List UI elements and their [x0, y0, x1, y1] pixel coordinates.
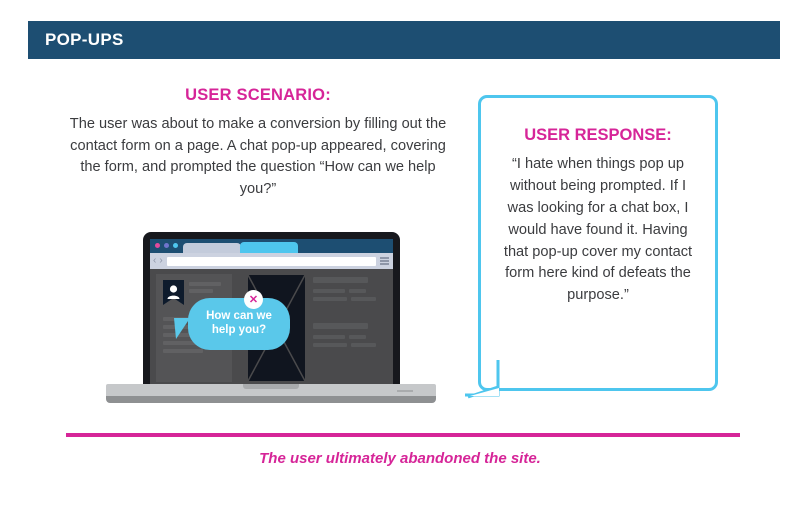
user-scenario-text: The user was about to make a conversion …	[68, 114, 448, 200]
placeholder-line	[313, 289, 345, 293]
avatar-icon	[163, 280, 184, 305]
chat-popup-text: How can we help you?	[188, 298, 290, 338]
page-title: POP-UPS	[45, 30, 124, 50]
maximize-dot-icon[interactable]	[173, 243, 178, 248]
placeholder-line	[351, 297, 376, 301]
browser-tab-inactive[interactable]	[183, 243, 241, 253]
browser-tab-active[interactable]	[240, 242, 298, 253]
browser-toolbar: ‹ ›	[150, 253, 393, 269]
footer-divider	[66, 433, 740, 437]
chat-close-button[interactable]: ✕	[244, 290, 263, 309]
minimize-dot-icon[interactable]	[164, 243, 169, 248]
placeholder-line	[351, 343, 376, 347]
laptop-base-sidemark	[397, 390, 413, 392]
user-scenario-block: USER SCENARIO: The user was about to mak…	[68, 86, 448, 200]
laptop-screen: ‹ ›	[150, 239, 393, 384]
placeholder-line	[189, 289, 213, 293]
placeholder-line	[313, 277, 368, 283]
footer-caption: The user ultimately abandoned the site.	[0, 450, 800, 467]
user-response-bubble: USER RESPONSE: “I hate when things pop u…	[478, 95, 718, 391]
hamburger-menu-icon[interactable]	[380, 257, 389, 264]
placeholder-line	[189, 282, 221, 286]
chat-popup-line-1: How can we	[206, 310, 272, 322]
placeholder-line	[313, 343, 347, 347]
back-icon[interactable]: ‹	[153, 256, 156, 266]
placeholder-line	[313, 335, 345, 339]
forward-icon[interactable]: ›	[159, 256, 162, 266]
laptop-lid: ‹ ›	[143, 232, 400, 384]
placeholder-line	[349, 335, 366, 339]
placeholder-line	[163, 349, 203, 353]
browser-titlebar	[150, 239, 393, 253]
user-response-text: “I hate when things pop up without being…	[495, 154, 701, 307]
laptop-illustration: ‹ ›	[106, 228, 436, 408]
speech-bubble-tail-icon	[462, 357, 502, 401]
user-scenario-heading: USER SCENARIO:	[68, 86, 448, 105]
placeholder-line	[313, 297, 347, 301]
header-bar: POP-UPS	[28, 21, 780, 59]
placeholder-line	[349, 289, 366, 293]
laptop-base-notch	[243, 384, 299, 389]
close-dot-icon[interactable]	[155, 243, 160, 248]
webpage-content: How can we help you? ✕	[150, 269, 393, 384]
placeholder-line	[313, 323, 368, 329]
url-input[interactable]	[167, 257, 376, 266]
chat-popup[interactable]: How can we help you?	[188, 298, 290, 350]
chat-popup-line-2: help you?	[212, 324, 266, 336]
user-response-heading: USER RESPONSE:	[481, 126, 715, 145]
laptop-base-shadow	[106, 396, 436, 403]
